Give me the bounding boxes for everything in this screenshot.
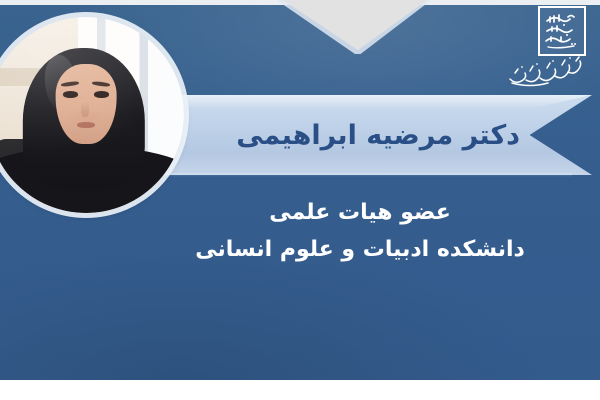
photo-eye-right — [94, 91, 109, 97]
photo-lips — [77, 122, 95, 128]
photo-eye-left — [63, 91, 78, 97]
profile-banner: دانشگاه شهید بهشتی روابط عمومی و اطلاع ر… — [0, 0, 600, 400]
logo-university-name: دانشگاه شهید بهشتی — [591, 6, 592, 7]
university-seal-icon — [538, 6, 586, 56]
person-role-block: عضو هیات علمی دانشکده ادبیات و علوم انسا… — [160, 196, 560, 266]
person-role-line-2: دانشکده ادبیات و علوم انسانی — [160, 233, 560, 266]
person-role-line-1: عضو هیات علمی — [160, 196, 560, 229]
person-photo — [0, 17, 184, 213]
public-relations-calligraphy-icon — [506, 52, 590, 94]
person-photo-image — [0, 17, 184, 213]
logo-department-name: روابط عمومی و اطلاع رسانی — [591, 6, 592, 7]
university-logo: دانشگاه شهید بهشتی روابط عمومی و اطلاع ر… — [506, 6, 592, 98]
